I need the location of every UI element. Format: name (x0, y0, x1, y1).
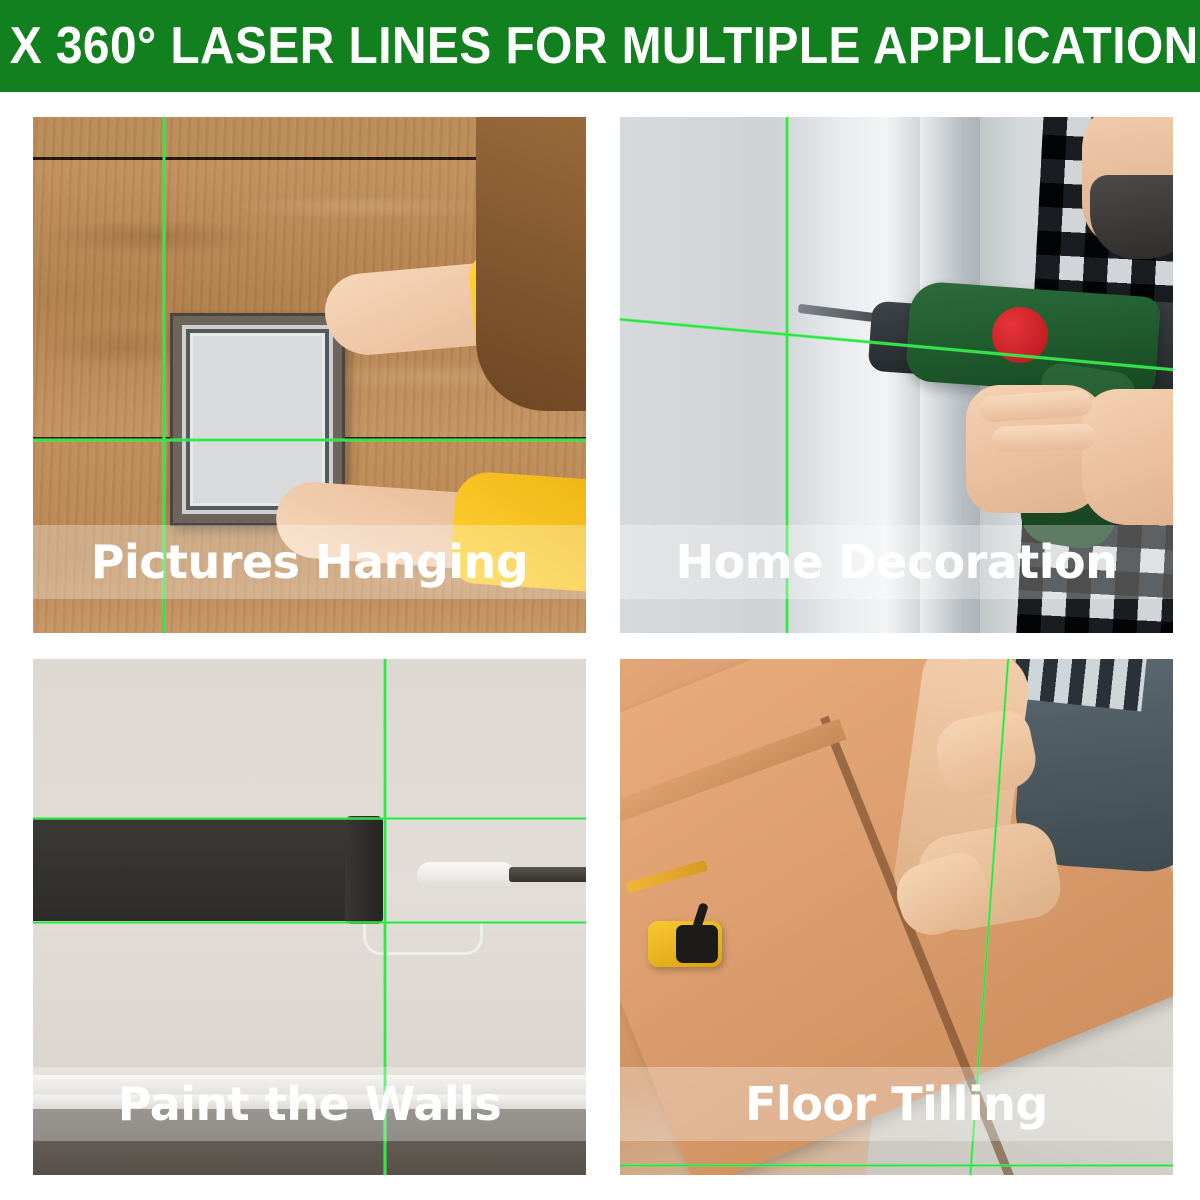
scene-drilling-wall (620, 117, 1173, 633)
frame-mat (193, 336, 322, 503)
paint-roller-head (345, 816, 383, 924)
application-panel-grid: Pictures Hanging (33, 117, 1173, 1175)
panel-home-decoration: Home Decoration (620, 117, 1173, 633)
paint-roller-handle (417, 862, 515, 888)
paint-roller-pole (509, 867, 586, 882)
headline-banner: 4 X 360° LASER LINES FOR MULTIPLE APPLIC… (0, 0, 1200, 92)
scene-wood-wall-frame (33, 117, 586, 633)
tape-measure (648, 921, 722, 967)
baseboard-moulding (33, 1075, 586, 1109)
paint-roller-frame-wire (363, 921, 483, 955)
panel-pictures-hanging: Pictures Hanging (33, 117, 586, 633)
hand-secondary (1082, 389, 1173, 525)
headline-text: 4 X 360° LASER LINES FOR MULTIPLE APPLIC… (0, 20, 1200, 72)
yellow-sleeve-lower (449, 470, 586, 592)
dark-floor (33, 1109, 586, 1175)
finger-2 (992, 423, 1097, 453)
panel-floor-tilling: Floor Tilling (620, 659, 1173, 1175)
product-feature-image: 4 X 360° LASER LINES FOR MULTIPLE APPLIC… (0, 0, 1200, 1200)
scene-painting-wall (33, 659, 586, 1175)
hair (476, 117, 586, 411)
drill-red-dial (992, 307, 1048, 363)
tape-measure-body (676, 925, 718, 963)
panel-paint-the-walls: Paint the Walls (33, 659, 586, 1175)
scene-laying-floor-plank (620, 659, 1173, 1175)
painted-dark-stripe (33, 818, 381, 921)
